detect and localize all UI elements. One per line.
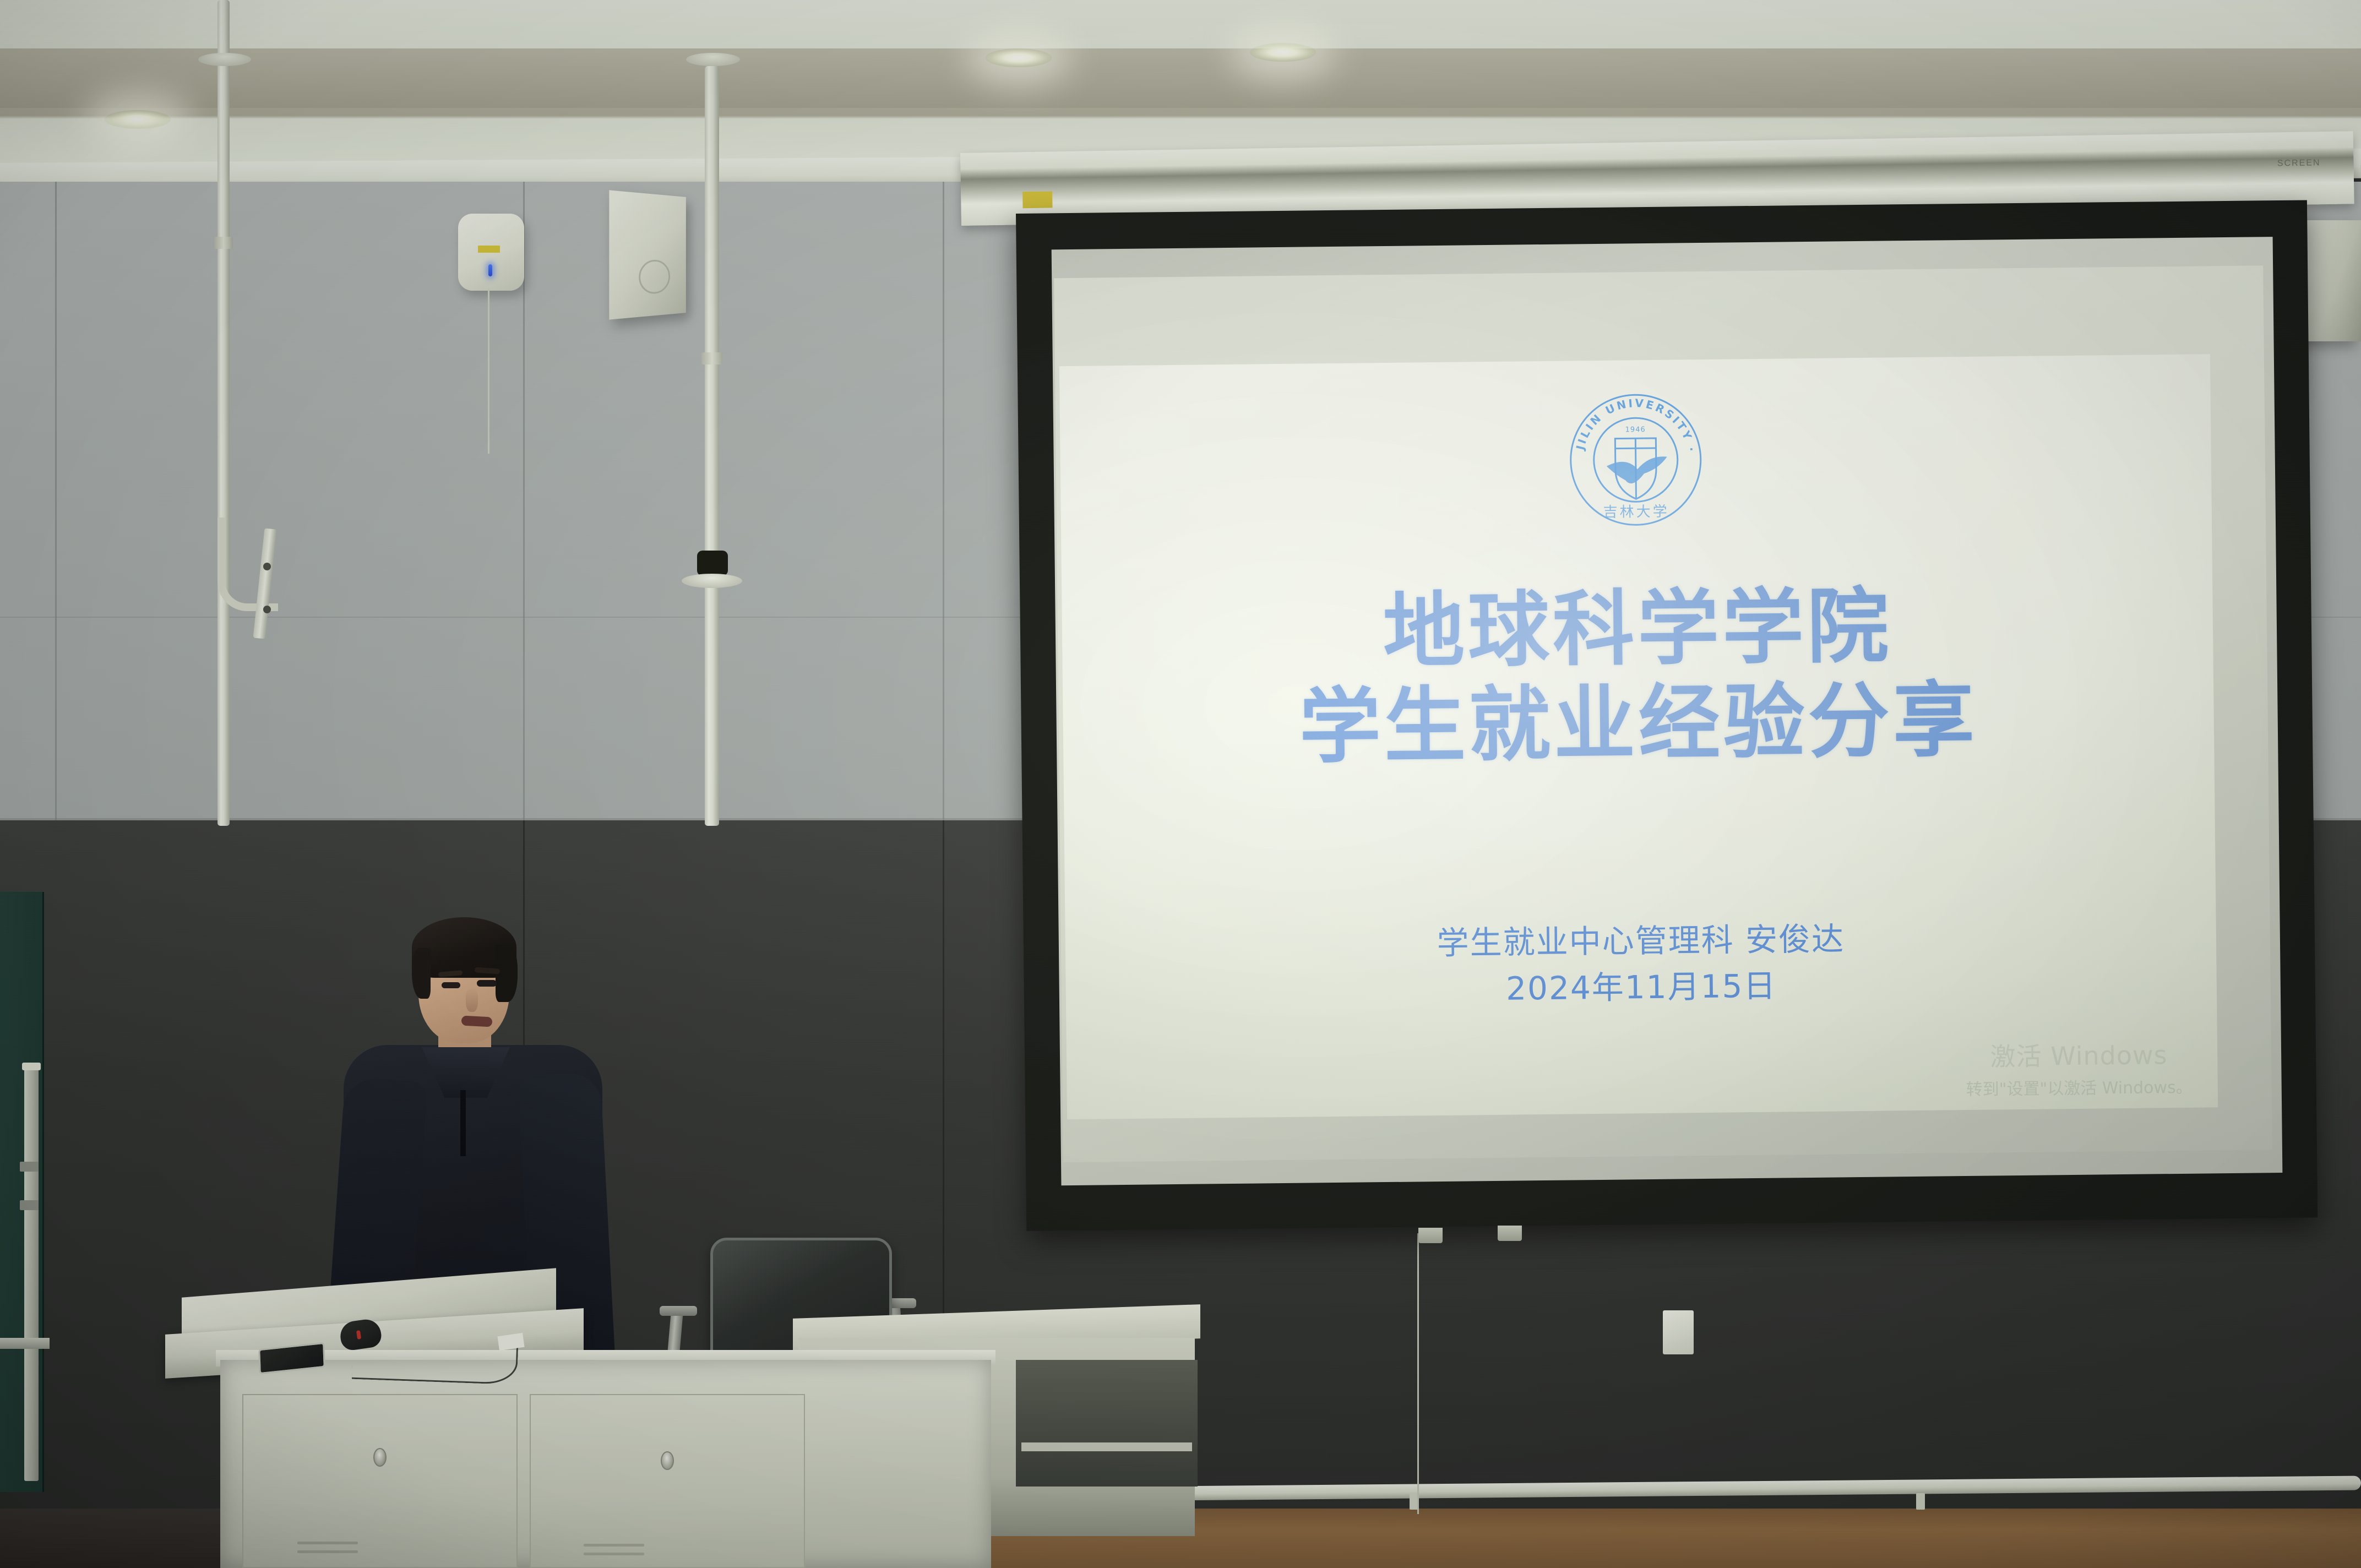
presenter-placket bbox=[460, 1090, 466, 1156]
slide-title-line-2: 学生就业经验分享 bbox=[1063, 674, 2215, 773]
projector-ceiling-mount bbox=[705, 66, 719, 826]
wifi-access-point bbox=[458, 214, 524, 291]
conduit-clip bbox=[1916, 1493, 1925, 1510]
chalkboard-rail-clip bbox=[20, 1200, 39, 1210]
warning-sticker bbox=[1022, 191, 1052, 208]
cabinet-vent bbox=[297, 1550, 358, 1553]
screen-brand-label: SCREEN bbox=[2277, 158, 2321, 168]
presenter-eye bbox=[442, 982, 460, 988]
arm-screw bbox=[263, 606, 271, 613]
screen-mount-tab bbox=[1418, 1228, 1443, 1243]
chalkboard-ledge bbox=[0, 1338, 50, 1349]
watermark-line-1: 激活 Windows bbox=[1966, 1035, 2193, 1074]
wall-panel-seam bbox=[943, 182, 944, 820]
presentation-slide: JILIN UNIVERSITY · CHINA 1946 吉林大学 bbox=[1059, 354, 2218, 1119]
cabinet-vent bbox=[584, 1553, 644, 1555]
projector-mount-knot bbox=[697, 551, 728, 576]
ceiling-spotlight bbox=[986, 48, 1052, 67]
ceiling-spotlight bbox=[105, 110, 171, 129]
chair-armrest bbox=[660, 1306, 697, 1316]
svg-text:吉林大学: 吉林大学 bbox=[1603, 504, 1669, 521]
cabinet-lock-icon[interactable] bbox=[661, 1451, 674, 1470]
chalkboard-rail-cap bbox=[22, 1063, 41, 1070]
lectern-cabinet-door[interactable] bbox=[242, 1394, 518, 1568]
windows-activation-watermark: 激活 Windows 转到"设置"以激活 Windows。 bbox=[1966, 1035, 2193, 1100]
hanging-cable bbox=[1417, 1233, 1419, 1514]
pole-joint bbox=[214, 237, 233, 249]
cabinet-lock-icon[interactable] bbox=[373, 1448, 387, 1467]
lectern-cabinet-door[interactable] bbox=[530, 1394, 805, 1568]
ceiling-mount-pole bbox=[217, 0, 230, 826]
desk-open-compartment bbox=[1016, 1360, 1198, 1487]
pole-joint bbox=[701, 352, 722, 364]
cabinet-vent bbox=[584, 1544, 644, 1547]
arm-screw bbox=[263, 563, 271, 570]
jilin-university-seal-icon: JILIN UNIVERSITY · CHINA 1946 吉林大学 bbox=[1566, 390, 1705, 530]
projection-screen-surface: JILIN UNIVERSITY · CHINA 1946 吉林大学 bbox=[1052, 237, 2283, 1185]
mouse-led-icon bbox=[356, 1330, 361, 1340]
cabinet-vent bbox=[297, 1542, 358, 1544]
slide-title-line-1: 地球科学学院 bbox=[1062, 580, 2213, 678]
lecture-hall-scene: SCREEN JILIN UNIVERSITY · CHINA bbox=[0, 0, 2361, 1568]
chalkboard-rail bbox=[24, 1063, 39, 1481]
ceiling-mount-plate bbox=[198, 53, 251, 66]
svg-text:1946: 1946 bbox=[1625, 426, 1646, 434]
desk-shelf bbox=[1021, 1442, 1192, 1451]
ceiling-mount-plate bbox=[686, 53, 740, 66]
wall-panel-seam bbox=[55, 182, 57, 820]
asset-label bbox=[478, 246, 500, 253]
presenter-nose bbox=[466, 988, 478, 1012]
chalkboard-rail-clip bbox=[20, 1162, 39, 1172]
presenter-eye bbox=[477, 980, 497, 987]
mouse-cable bbox=[352, 1341, 518, 1385]
ceiling-beam bbox=[0, 48, 2361, 108]
ceiling-spotlight bbox=[1250, 43, 1316, 62]
projector-mount-disc bbox=[682, 574, 742, 588]
watermark-line-2: 转到"设置"以激活 Windows。 bbox=[1966, 1074, 2193, 1100]
speaker-cone-icon bbox=[639, 260, 670, 295]
wall-speaker bbox=[609, 190, 686, 319]
presenter-hair-side bbox=[412, 948, 431, 999]
screen-mount-tab bbox=[1498, 1226, 1522, 1241]
power-outlet[interactable] bbox=[1663, 1310, 1694, 1354]
status-led-icon bbox=[488, 264, 492, 276]
presenter-mouth bbox=[461, 1016, 493, 1027]
wifi-cable bbox=[488, 288, 489, 454]
projection-screen: JILIN UNIVERSITY · CHINA 1946 吉林大学 bbox=[1016, 200, 2318, 1231]
